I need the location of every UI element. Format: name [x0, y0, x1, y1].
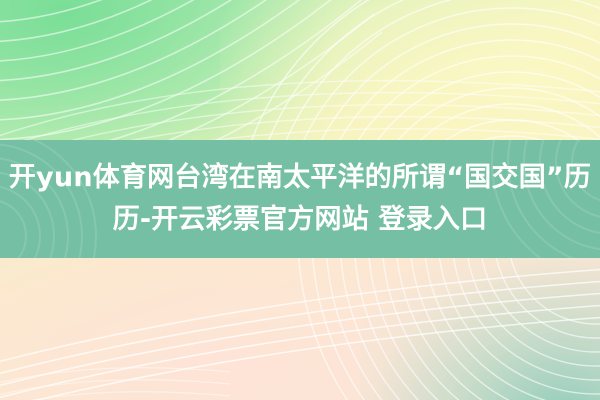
banner-image: 开yun体育网台湾在南太平洋的所谓“国交国”历历-开云彩票官方网站 登录入口: [0, 0, 600, 400]
page-title: 开yun体育网台湾在南太平洋的所谓“国交国”历历-开云彩票官方网站 登录入口: [0, 157, 600, 241]
headline-band: 开yun体育网台湾在南太平洋的所谓“国交国”历历-开云彩票官方网站 登录入口: [0, 140, 600, 258]
